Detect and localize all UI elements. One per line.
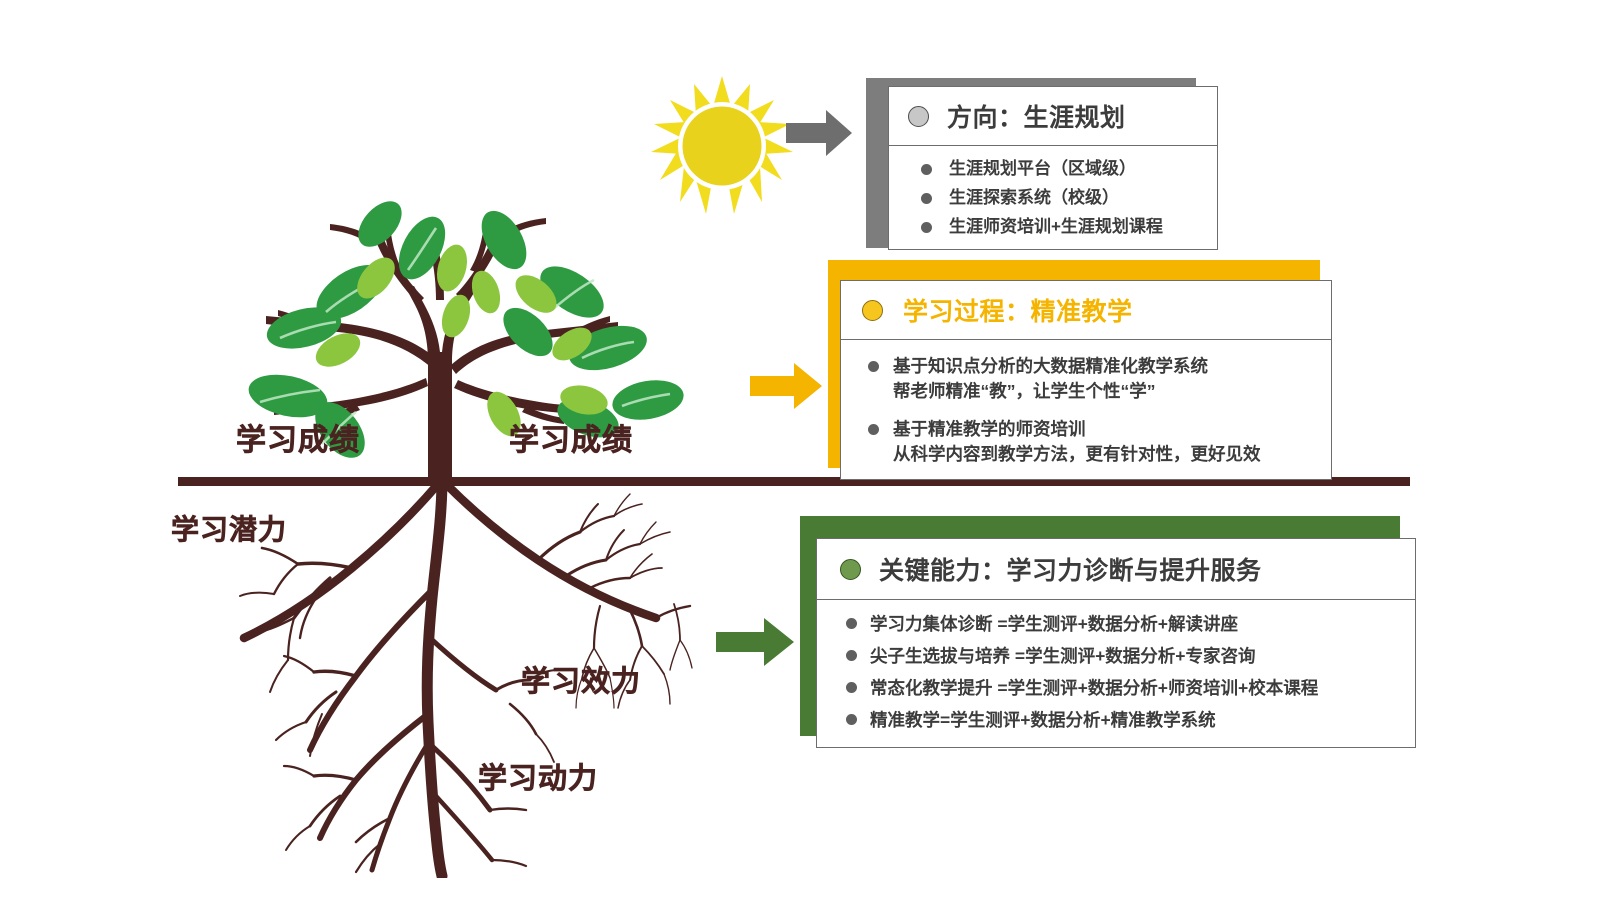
bullet-dot-icon (908, 106, 929, 127)
card-ability-bullet-2: 尖子生选拔与培养 =学生测评+数据分析+专家咨询 (870, 644, 1256, 668)
label-learning-efficacy: 学习效力 (521, 658, 641, 700)
bullet-dot-icon (862, 300, 883, 321)
list-item: 生涯探索系统（校级） (921, 185, 1217, 211)
card-process-header: 学习过程：精准教学 (841, 281, 1331, 339)
card-ability-header: 关键能力：学习力诊断与提升服务 (817, 539, 1415, 599)
list-item: 生涯规划平台（区域级） (921, 156, 1217, 182)
card-direction-bullet-2: 生涯探索系统（校级） (949, 185, 1119, 211)
card-process-bullet-2: 基于精准教学的师资培训 从科学内容到教学方法，更有针对性，更好见效 (893, 417, 1261, 467)
bullet-dot-icon (921, 164, 932, 175)
card-direction-body: 生涯规划平台（区域级） 生涯探索系统（校级） 生涯师资培训+生涯规划课程 (889, 145, 1217, 249)
bullet-dot-icon (846, 682, 857, 693)
card-direction-header: 方向：生涯规划 (889, 87, 1217, 145)
card-ability[interactable]: 关键能力：学习力诊断与提升服务 学习力集体诊断 =学生测评+数据分析+解读讲座 … (800, 516, 1416, 748)
list-item: 基于知识点分析的大数据精准化教学系统 帮老师精准“教”，让学生个性“学” (868, 354, 1331, 404)
arrow-to-process-card-icon (750, 363, 822, 409)
label-learning-potential: 学习潜力 (171, 508, 287, 548)
bullet-dot-icon (921, 222, 932, 233)
card-process-body: 基于知识点分析的大数据精准化教学系统 帮老师精准“教”，让学生个性“学” 基于精… (841, 339, 1331, 479)
card-process-title: 学习过程：精准教学 (903, 292, 1133, 328)
bullet-dot-icon (840, 559, 861, 580)
list-item: 学习力集体诊断 =学生测评+数据分析+解读讲座 (846, 612, 1415, 636)
bullet-dot-icon (846, 714, 857, 725)
card-ability-bullet-4: 精准教学=学生测评+数据分析+精准教学系统 (870, 708, 1216, 732)
card-direction-title: 方向：生涯规划 (947, 98, 1126, 134)
card-direction-panel: 方向：生涯规划 生涯规划平台（区域级） 生涯探索系统（校级） 生涯师资培训+生涯… (888, 86, 1218, 250)
card-ability-title: 关键能力：学习力诊断与提升服务 (879, 551, 1262, 587)
list-item: 常态化教学提升 =学生测评+数据分析+师资培训+校本课程 (846, 676, 1415, 700)
card-process-panel: 学习过程：精准教学 基于知识点分析的大数据精准化教学系统 帮老师精准“教”，让学… (840, 280, 1332, 480)
diagram-canvas: 学习成绩 学习成绩 学习潜力 学习效力 学习动力 (0, 0, 1600, 900)
bullet-dot-icon (846, 650, 857, 661)
bullet-dot-icon (921, 193, 932, 204)
list-item: 尖子生选拔与培养 =学生测评+数据分析+专家咨询 (846, 644, 1415, 668)
card-process-bullet-1: 基于知识点分析的大数据精准化教学系统 帮老师精准“教”，让学生个性“学” (893, 354, 1208, 404)
label-learning-motivation: 学习动力 (478, 755, 598, 797)
card-ability-bullet-1: 学习力集体诊断 =学生测评+数据分析+解读讲座 (870, 612, 1238, 636)
sun-icon (650, 76, 794, 216)
bullet-dot-icon (846, 618, 857, 629)
card-ability-body: 学习力集体诊断 =学生测评+数据分析+解读讲座 尖子生选拔与培养 =学生测评+数… (817, 599, 1415, 749)
arrow-to-ability-card-icon (716, 618, 794, 666)
card-direction-bullet-3: 生涯师资培训+生涯规划课程 (949, 214, 1163, 240)
list-item: 生涯师资培训+生涯规划课程 (921, 214, 1217, 240)
card-direction[interactable]: 方向：生涯规划 生涯规划平台（区域级） 生涯探索系统（校级） 生涯师资培训+生涯… (866, 78, 1218, 256)
bullet-dot-icon (868, 424, 879, 435)
card-process[interactable]: 学习过程：精准教学 基于知识点分析的大数据精准化教学系统 帮老师精准“教”，让学… (828, 260, 1332, 480)
card-direction-bullet-1: 生涯规划平台（区域级） (949, 156, 1136, 182)
label-learning-score-right: 学习成绩 (509, 415, 633, 459)
list-item: 基于精准教学的师资培训 从科学内容到教学方法，更有针对性，更好见效 (868, 417, 1331, 467)
list-item: 精准教学=学生测评+数据分析+精准教学系统 (846, 708, 1415, 732)
bullet-dot-icon (868, 361, 879, 372)
arrow-to-direction-card-icon (786, 110, 852, 156)
card-ability-panel: 关键能力：学习力诊断与提升服务 学习力集体诊断 =学生测评+数据分析+解读讲座 … (816, 538, 1416, 748)
card-ability-bullet-3: 常态化教学提升 =学生测评+数据分析+师资培训+校本课程 (870, 676, 1318, 700)
label-learning-score-left: 学习成绩 (236, 415, 360, 459)
